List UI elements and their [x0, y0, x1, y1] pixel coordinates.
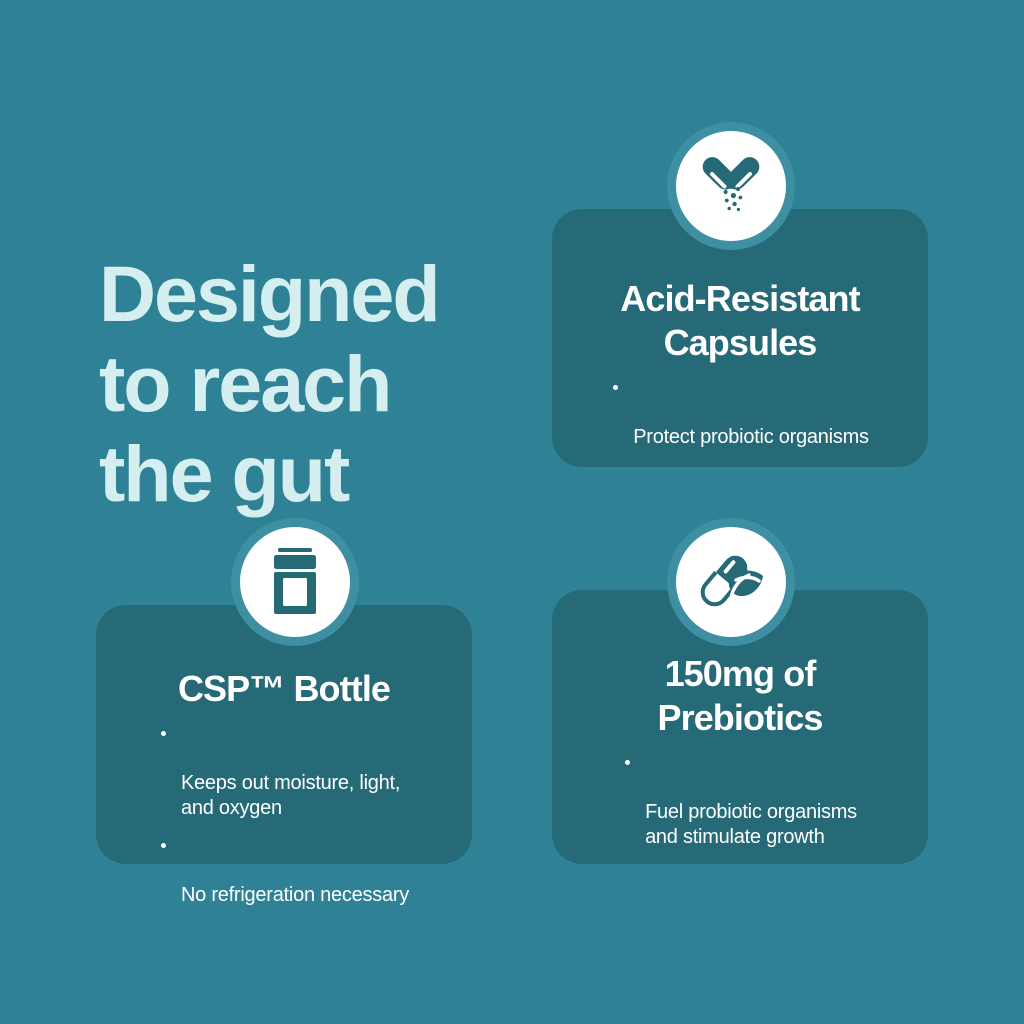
list-item-label: Protect probiotic organisms: [633, 426, 869, 448]
card-content: 150mg of Prebiotics Fuel probiotic organ…: [552, 652, 928, 850]
list-item: Keeps out moisture, light, and oxygen: [159, 721, 409, 821]
card-bullet-list: Protect probiotic organisms: [611, 375, 869, 450]
card-content: CSP™ Bottle Keeps out moisture, light, a…: [96, 667, 472, 908]
card-bullet-list: Keeps out moisture, light, and oxygen No…: [159, 721, 409, 908]
list-item: No refrigeration necessary: [159, 833, 409, 908]
list-item-label: No refrigeration necessary: [181, 884, 409, 906]
capsule-leaves-icon: [695, 546, 767, 618]
list-item: Fuel probiotic organisms and stimulate g…: [623, 750, 857, 850]
icon-badge-prebiotics: [676, 527, 786, 637]
page-title: Designed to reach the gut: [99, 249, 529, 519]
card-title: Acid-Resistant Capsules: [572, 277, 908, 365]
card-bullet-list: Fuel probiotic organisms and stimulate g…: [623, 750, 857, 850]
feature-card-csp-bottle: CSP™ Bottle Keeps out moisture, light, a…: [96, 605, 472, 864]
feature-card-acid-resistant-capsules: Acid-Resistant Capsules Protect probioti…: [552, 209, 928, 467]
bullet-dot-icon: [625, 760, 630, 765]
icon-badge-acid-resistant-capsules: [676, 131, 786, 241]
open-capsule-powder-icon: [695, 150, 767, 222]
card-title: 150mg of Prebiotics: [572, 652, 908, 740]
list-item-label: Fuel probiotic organisms and stimulate g…: [645, 801, 857, 848]
list-item: Protect probiotic organisms: [611, 375, 869, 450]
bullet-dot-icon: [161, 843, 166, 848]
card-content: Acid-Resistant Capsules Protect probioti…: [552, 277, 928, 450]
bullet-dot-icon: [161, 731, 166, 736]
icon-badge-csp-bottle: [240, 527, 350, 637]
card-title: CSP™ Bottle: [116, 667, 452, 711]
pill-bottle-icon: [264, 546, 326, 618]
bullet-dot-icon: [613, 385, 618, 390]
infographic-canvas: Designed to reach the gut Acid-Resistant…: [0, 0, 1024, 1024]
list-item-label: Keeps out moisture, light, and oxygen: [181, 772, 400, 819]
